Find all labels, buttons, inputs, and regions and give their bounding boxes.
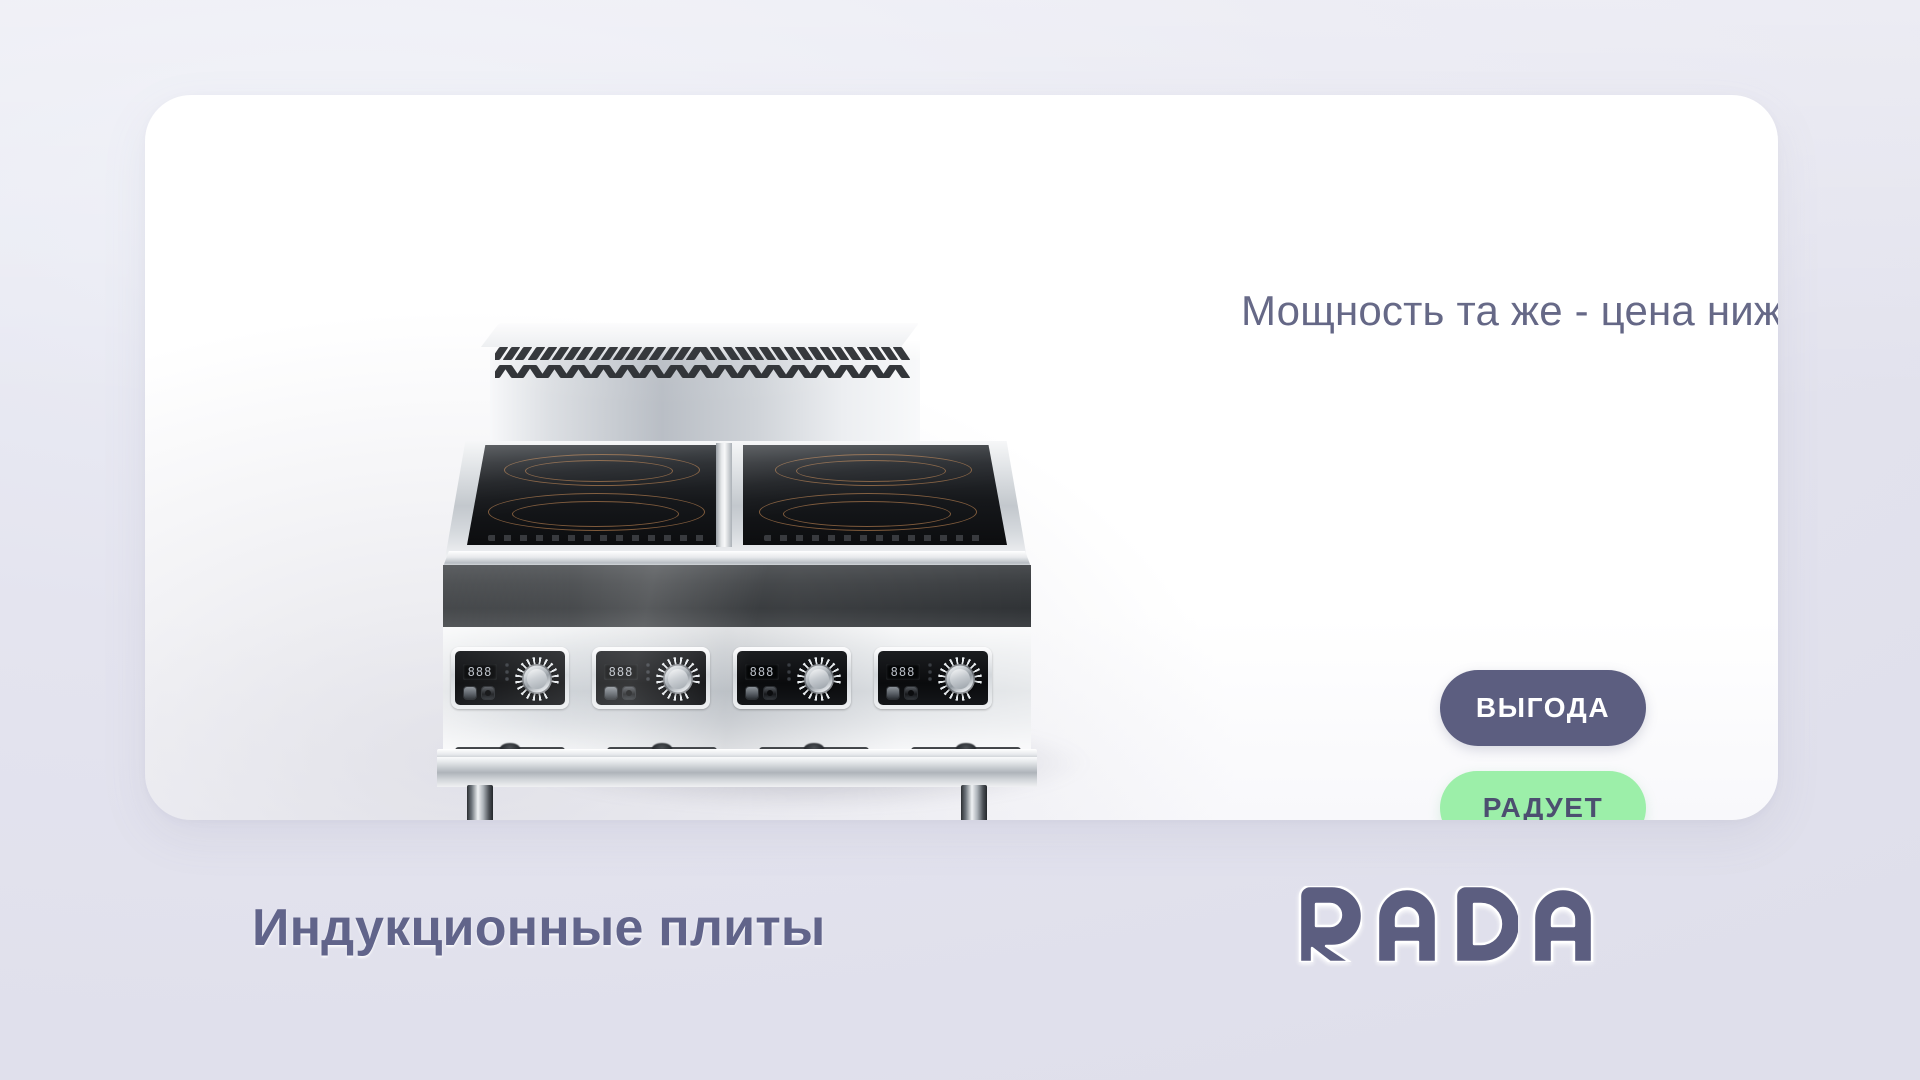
knob-assembly[interactable]: [797, 657, 841, 701]
indicator-dot: [505, 670, 509, 674]
led-display: 888: [604, 664, 638, 680]
logo-letter-d: [1452, 886, 1518, 962]
plinth: [437, 757, 1037, 787]
logo-letter-a2: [1530, 886, 1596, 962]
badge-benefit[interactable]: ВЫГОДА: [1440, 670, 1646, 746]
panel-button-1[interactable]: [464, 687, 476, 699]
logo-letter-r: [1296, 886, 1362, 962]
control-panel-face: 888: [596, 651, 706, 705]
indicator-dot: [646, 677, 650, 681]
indicator-dot: [928, 663, 932, 667]
knob-assembly[interactable]: [656, 657, 700, 701]
cooking-zone-left: [467, 445, 729, 545]
indicator-dot: [646, 670, 650, 674]
indicator-dot-group: [646, 663, 650, 681]
control-panel-face: 888: [737, 651, 847, 705]
backsplash-top-edge: [481, 323, 919, 347]
page-title: Индукционные плиты: [252, 898, 826, 958]
ceramic-glass-area: [467, 445, 1007, 545]
control-panel-face: 888: [878, 651, 988, 705]
rotary-knob[interactable]: [663, 664, 693, 694]
indicator-dot: [928, 670, 932, 674]
rotary-knob[interactable]: [945, 664, 975, 694]
panel-button-2[interactable]: [905, 687, 917, 699]
appliance-leg: [961, 785, 987, 820]
leg-shaft: [467, 785, 493, 820]
panel-button-1[interactable]: [605, 687, 617, 699]
panel-button-2[interactable]: [623, 687, 635, 699]
indicator-dot: [928, 677, 932, 681]
induction-range-image: 888888888888: [445, 323, 1155, 820]
indicator-dot-group: [505, 663, 509, 681]
glass-reflection: [467, 445, 729, 545]
knob-assembly[interactable]: [515, 657, 559, 701]
panel-button-1[interactable]: [887, 687, 899, 699]
indicator-dot: [787, 670, 791, 674]
control-panel-2[interactable]: 888: [592, 647, 710, 709]
indicator-dot: [646, 663, 650, 667]
indicator-dot: [505, 663, 509, 667]
panel-button-1[interactable]: [746, 687, 758, 699]
led-display: 888: [745, 664, 779, 680]
glass-reflection: [743, 445, 1007, 545]
led-display: 888: [886, 664, 920, 680]
cooking-zone-right: [743, 445, 1007, 545]
indicator-dot-group: [928, 663, 932, 681]
indicator-dot: [787, 663, 791, 667]
rotary-knob[interactable]: [804, 664, 834, 694]
ventilation-slots: [495, 345, 915, 387]
indicator-dot-group: [787, 663, 791, 681]
leg-shaft: [961, 785, 987, 820]
panel-button-2[interactable]: [764, 687, 776, 699]
knob-assembly[interactable]: [938, 657, 982, 701]
control-panel-4[interactable]: 888: [874, 647, 992, 709]
brand-logo: [1296, 886, 1596, 962]
indicator-dot: [505, 677, 509, 681]
badge-delight[interactable]: РАДУЕТ: [1440, 771, 1646, 820]
control-panel-face: 888: [455, 651, 565, 705]
page-background: 888888888888 Мощность та же - цена ниже: [0, 0, 1920, 1080]
logo-letter-a1: [1374, 886, 1440, 962]
vent-slot: [893, 365, 911, 378]
indicator-dot: [787, 677, 791, 681]
rotary-knob[interactable]: [522, 664, 552, 694]
body-dark-band: [443, 565, 1031, 627]
cooktop-center-divider: [716, 443, 732, 547]
control-panel-1[interactable]: 888: [451, 647, 569, 709]
hero-card: 888888888888 Мощность та же - цена ниже: [145, 95, 1778, 820]
panel-button-2[interactable]: [482, 687, 494, 699]
control-panel-3[interactable]: 888: [733, 647, 851, 709]
appliance-leg: [467, 785, 493, 820]
headline-text: Мощность та же - цена ниже: [1241, 287, 1778, 335]
led-display: 888: [463, 664, 497, 680]
